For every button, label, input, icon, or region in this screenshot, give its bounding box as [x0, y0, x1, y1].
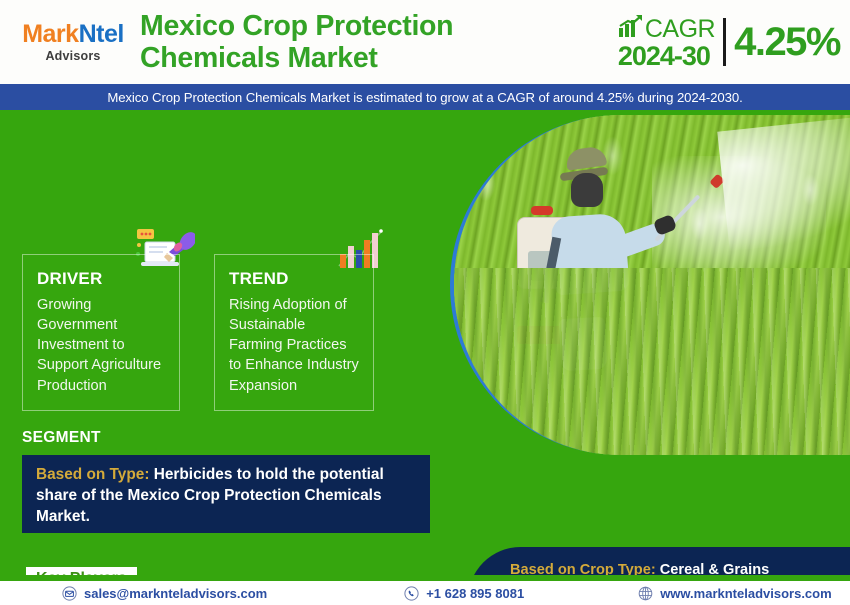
footer-phone[interactable]: +1 628 895 8081 [404, 586, 524, 601]
page-title: Mexico Crop Protection Chemicals Market [140, 10, 560, 74]
infographic-page: MarkNtel Advisors Mexico Crop Protection… [0, 0, 850, 605]
globe-icon [638, 586, 653, 601]
cagr-value: 4.25% [734, 22, 840, 62]
driver-text: Growing Government Investment to Support… [37, 295, 165, 396]
cagr-divider [723, 18, 726, 66]
trend-label: TREND [229, 269, 359, 289]
phone-icon [404, 586, 419, 601]
crop-type-box: Based on Crop Type: Cereal & Grains acco… [468, 547, 850, 575]
sprayer-tank-cap [531, 206, 553, 215]
driver-label: DRIVER [37, 269, 165, 289]
trend-text: Rising Adoption of Sustainable Farming P… [229, 295, 359, 396]
logo-text-tel: tel [96, 20, 124, 48]
footer-phone-text: +1 628 895 8081 [426, 586, 524, 601]
segment-statement: Based on Type: Herbicides to hold the po… [36, 465, 416, 528]
crop-type-prefix: Based on Crop Type: [510, 562, 656, 575]
crop-type-statement: Based on Crop Type: Cereal & Grains acco… [510, 560, 832, 575]
cagr-word: CAGR [645, 17, 715, 42]
subbanner: Mexico Crop Protection Chemicals Market … [0, 84, 850, 110]
body-panel: DRIVER Growing Government Investment to … [0, 110, 850, 575]
driver-card: DRIVER Growing Government Investment to … [22, 254, 180, 411]
crop-field-photo [450, 115, 850, 455]
footer-website-text: www.marknteladvisors.com [660, 586, 831, 601]
segment-label: SEGMENT [22, 429, 101, 447]
logo-wordmark: MarkNtel [8, 22, 138, 47]
farmer-head [571, 173, 603, 207]
logo-text-n: N [79, 20, 97, 48]
envelope-icon [62, 586, 77, 601]
company-logo[interactable]: MarkNtel Advisors [8, 22, 138, 63]
segment-prefix: Based on Type: [36, 466, 149, 483]
cagr-years: 2024-30 [618, 43, 715, 70]
key-players-badge: Key Players [26, 567, 137, 575]
footer: sales@marknteladvisors.com +1 628 895 80… [0, 581, 850, 605]
segment-box: Based on Type: Herbicides to hold the po… [22, 455, 430, 533]
footer-email[interactable]: sales@marknteladvisors.com [62, 586, 267, 601]
trend-card: TREND Rising Adoption of Sustainable Far… [214, 254, 374, 411]
cagr-block: CAGR 2024-30 4.25% [618, 14, 840, 70]
cagr-top-row: CAGR [618, 14, 715, 42]
logo-subtitle: Advisors [8, 50, 138, 63]
logo-text-mark: Mark [22, 20, 78, 48]
pesticide-spray [717, 115, 850, 251]
title-block: Mexico Crop Protection Chemicals Market [138, 10, 618, 74]
footer-website[interactable]: www.marknteladvisors.com [638, 586, 831, 601]
bar-chart-arrow-icon [618, 14, 644, 42]
cagr-label-group: CAGR 2024-30 [618, 14, 723, 70]
crop-foreground [454, 268, 850, 455]
footer-email-text: sales@marknteladvisors.com [84, 586, 267, 601]
subbanner-text: Mexico Crop Protection Chemicals Market … [107, 90, 742, 105]
header: MarkNtel Advisors Mexico Crop Protection… [0, 0, 850, 84]
